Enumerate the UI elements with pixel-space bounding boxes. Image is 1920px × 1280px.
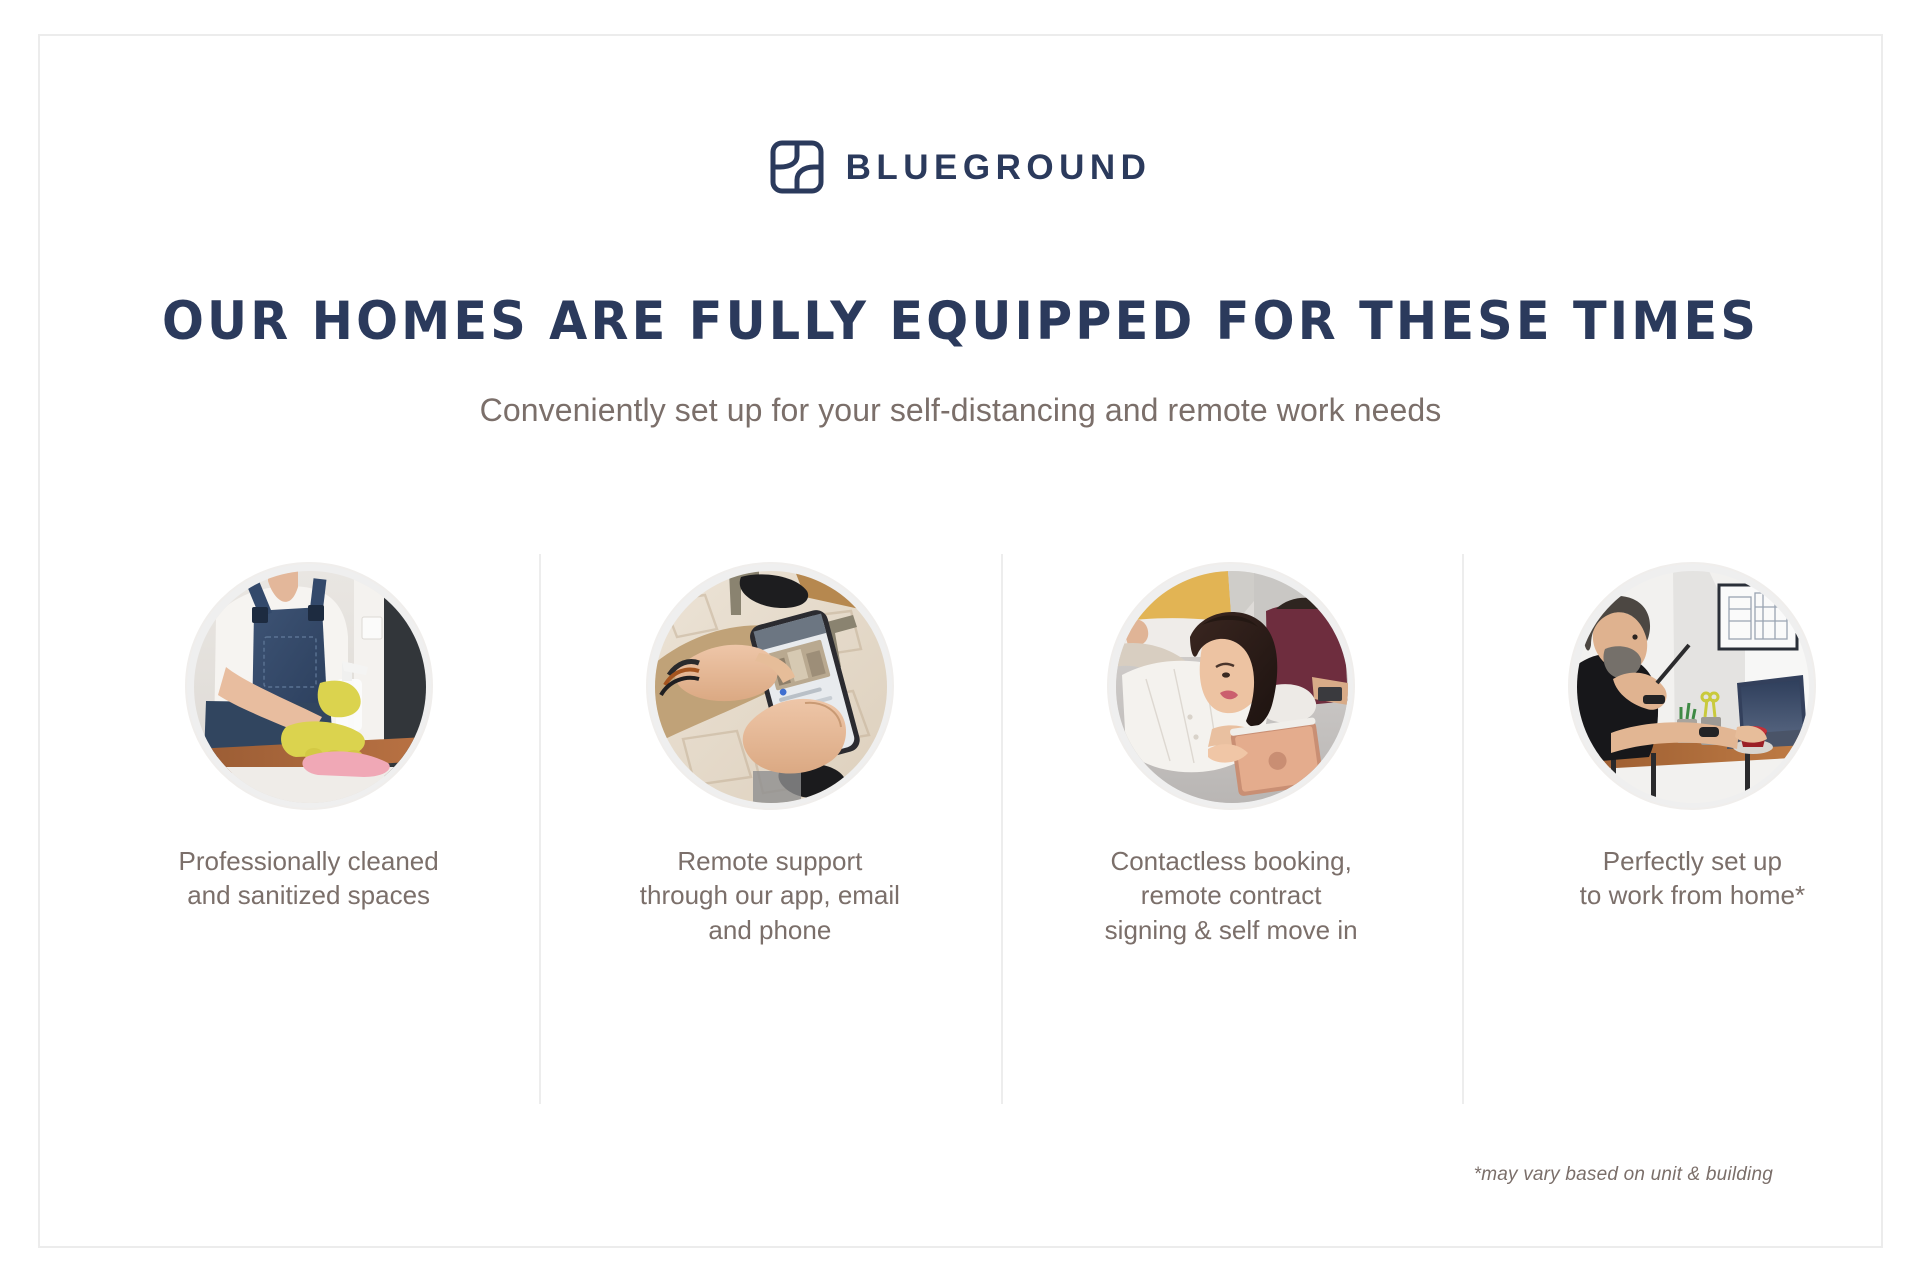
feature-caption: Contactless booking, remote contract sig… [1105,844,1358,947]
feature-caption: Perfectly set up to work from home* [1580,844,1805,913]
poster-frame: BLUEGROUND OUR HOMES ARE FULLY EQUIPPED … [38,34,1883,1248]
smartphone-app-photo [646,562,894,810]
poster-canvas: BLUEGROUND OUR HOMES ARE FULLY EQUIPPED … [0,0,1920,1280]
footnote-disclaimer: *may vary based on unit & building [1474,1164,1773,1186]
feature-column-cleaning: Professionally cleaned and sanitized spa… [78,554,539,1104]
feature-column-work-from-home: Perfectly set up to work from home* [1462,554,1920,1104]
page-title: OUR HOMES ARE FULLY EQUIPPED FOR THESE T… [104,291,1816,352]
feature-column-contactless-booking: Contactless booking, remote contract sig… [1001,554,1462,1104]
tablet-booking-photo [1107,562,1355,810]
work-from-home-photo [1568,562,1816,810]
page-subtitle: Conveniently set up for your self-distan… [40,392,1881,429]
feature-caption: Professionally cleaned and sanitized spa… [179,844,439,913]
brand-wordmark: BLUEGROUND [846,150,1152,185]
feature-column-remote-support: Remote support through our app, email an… [539,554,1000,1104]
blueground-square-logo-icon [770,140,824,194]
brand-logo: BLUEGROUND [40,140,1881,194]
cleaning-person-photo [185,562,433,810]
feature-columns: Professionally cleaned and sanitized spa… [78,554,1920,1104]
feature-caption: Remote support through our app, email an… [640,844,900,947]
